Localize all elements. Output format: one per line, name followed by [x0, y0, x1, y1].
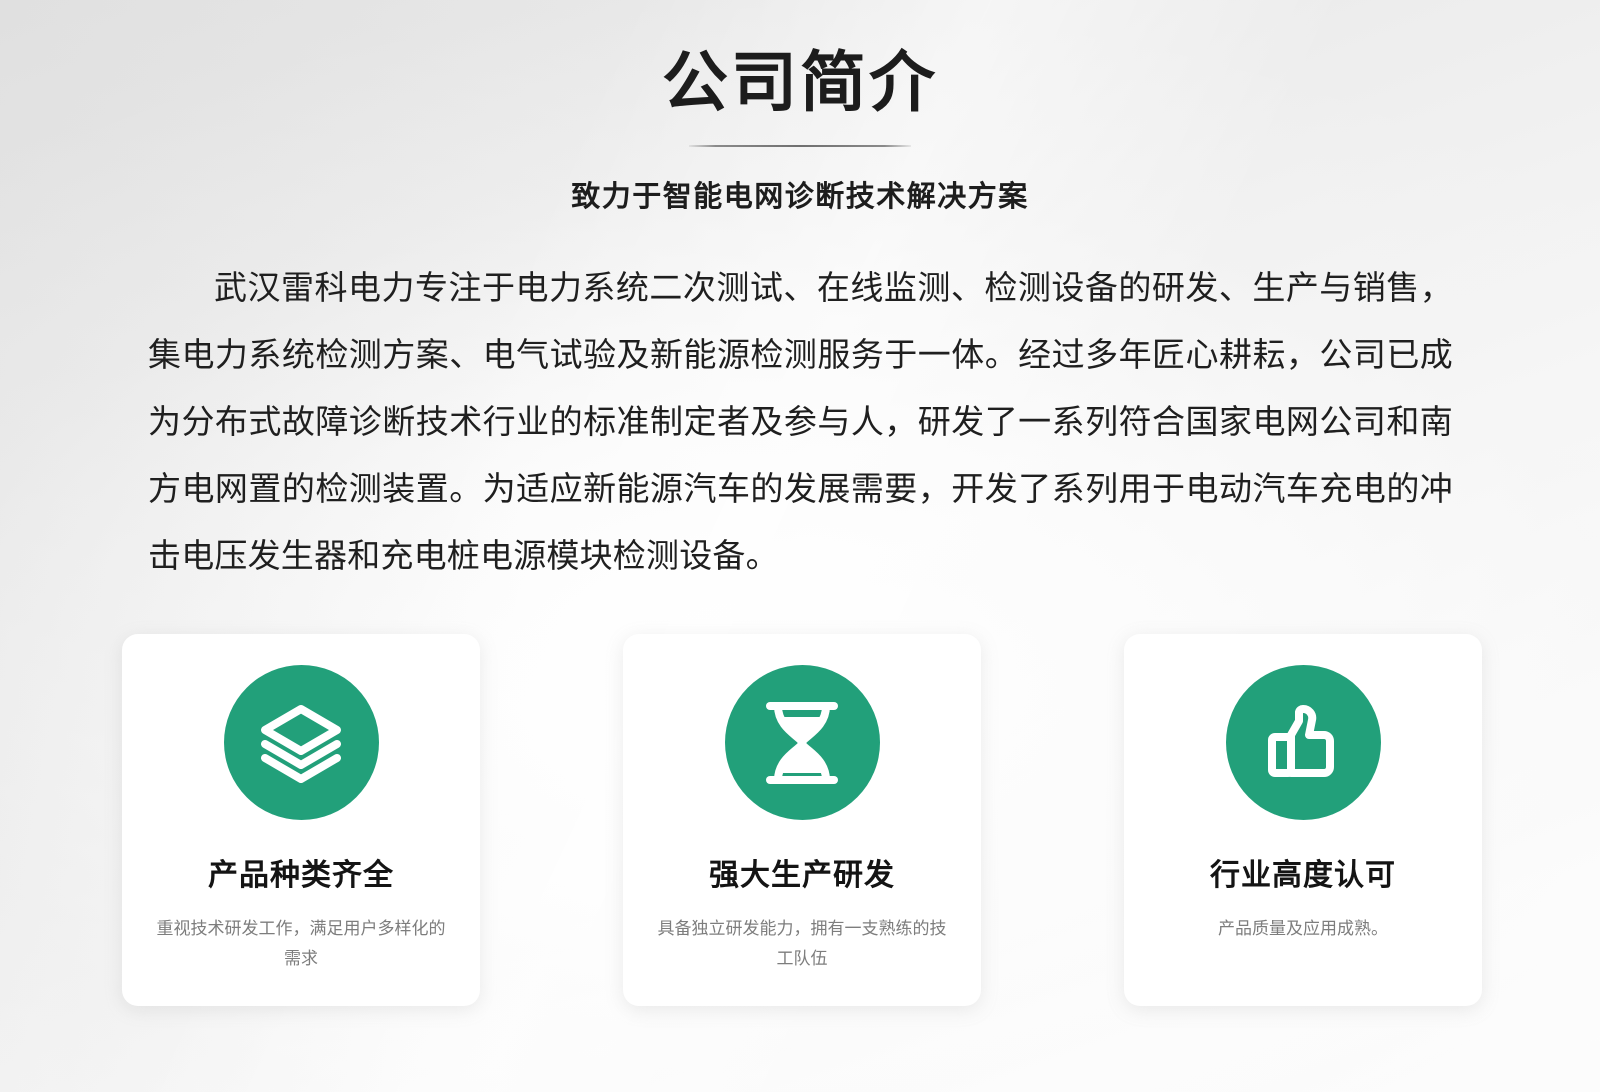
- feature-card-title: 行业高度认可: [1210, 850, 1396, 894]
- feature-card-description: 产品质量及应用成熟。: [1158, 914, 1448, 944]
- feature-card-product-range[interactable]: 产品种类齐全 重视技术研发工作，满足用户多样化的需求: [122, 634, 480, 1006]
- page-header: 公司简介 致力于智能电网诊断技术解决方案: [0, 0, 1600, 215]
- feature-card-title: 强大生产研发: [709, 850, 895, 894]
- feature-card-rnd-capability[interactable]: 强大生产研发 具备独立研发能力，拥有一支熟练的技工队伍: [623, 634, 981, 1006]
- feature-card-industry-recognition[interactable]: 行业高度认可 产品质量及应用成熟。: [1124, 634, 1482, 1006]
- hourglass-icon: [725, 665, 880, 820]
- feature-card-description: 重视技术研发工作，满足用户多样化的需求: [156, 914, 446, 974]
- page-title: 公司简介: [0, 42, 1600, 123]
- thumbs-up-icon: [1226, 665, 1381, 820]
- page-subtitle: 致力于智能电网诊断技术解决方案: [0, 173, 1600, 215]
- feature-card-description: 具备独立研发能力，拥有一支熟练的技工队伍: [657, 914, 947, 974]
- company-profile-page: 公司简介 致力于智能电网诊断技术解决方案 武汉雷科电力专注于电力系统二次测试、在…: [0, 0, 1600, 1092]
- company-intro-paragraph: 武汉雷科电力专注于电力系统二次测试、在线监测、检测设备的研发、生产与销售，集电力…: [148, 254, 1453, 589]
- layers-icon: [224, 665, 379, 820]
- title-divider: [689, 145, 911, 147]
- feature-card-list: 产品种类齐全 重视技术研发工作，满足用户多样化的需求 强大生产研发 具备独立: [122, 634, 1482, 1006]
- feature-card-title: 产品种类齐全: [208, 850, 394, 894]
